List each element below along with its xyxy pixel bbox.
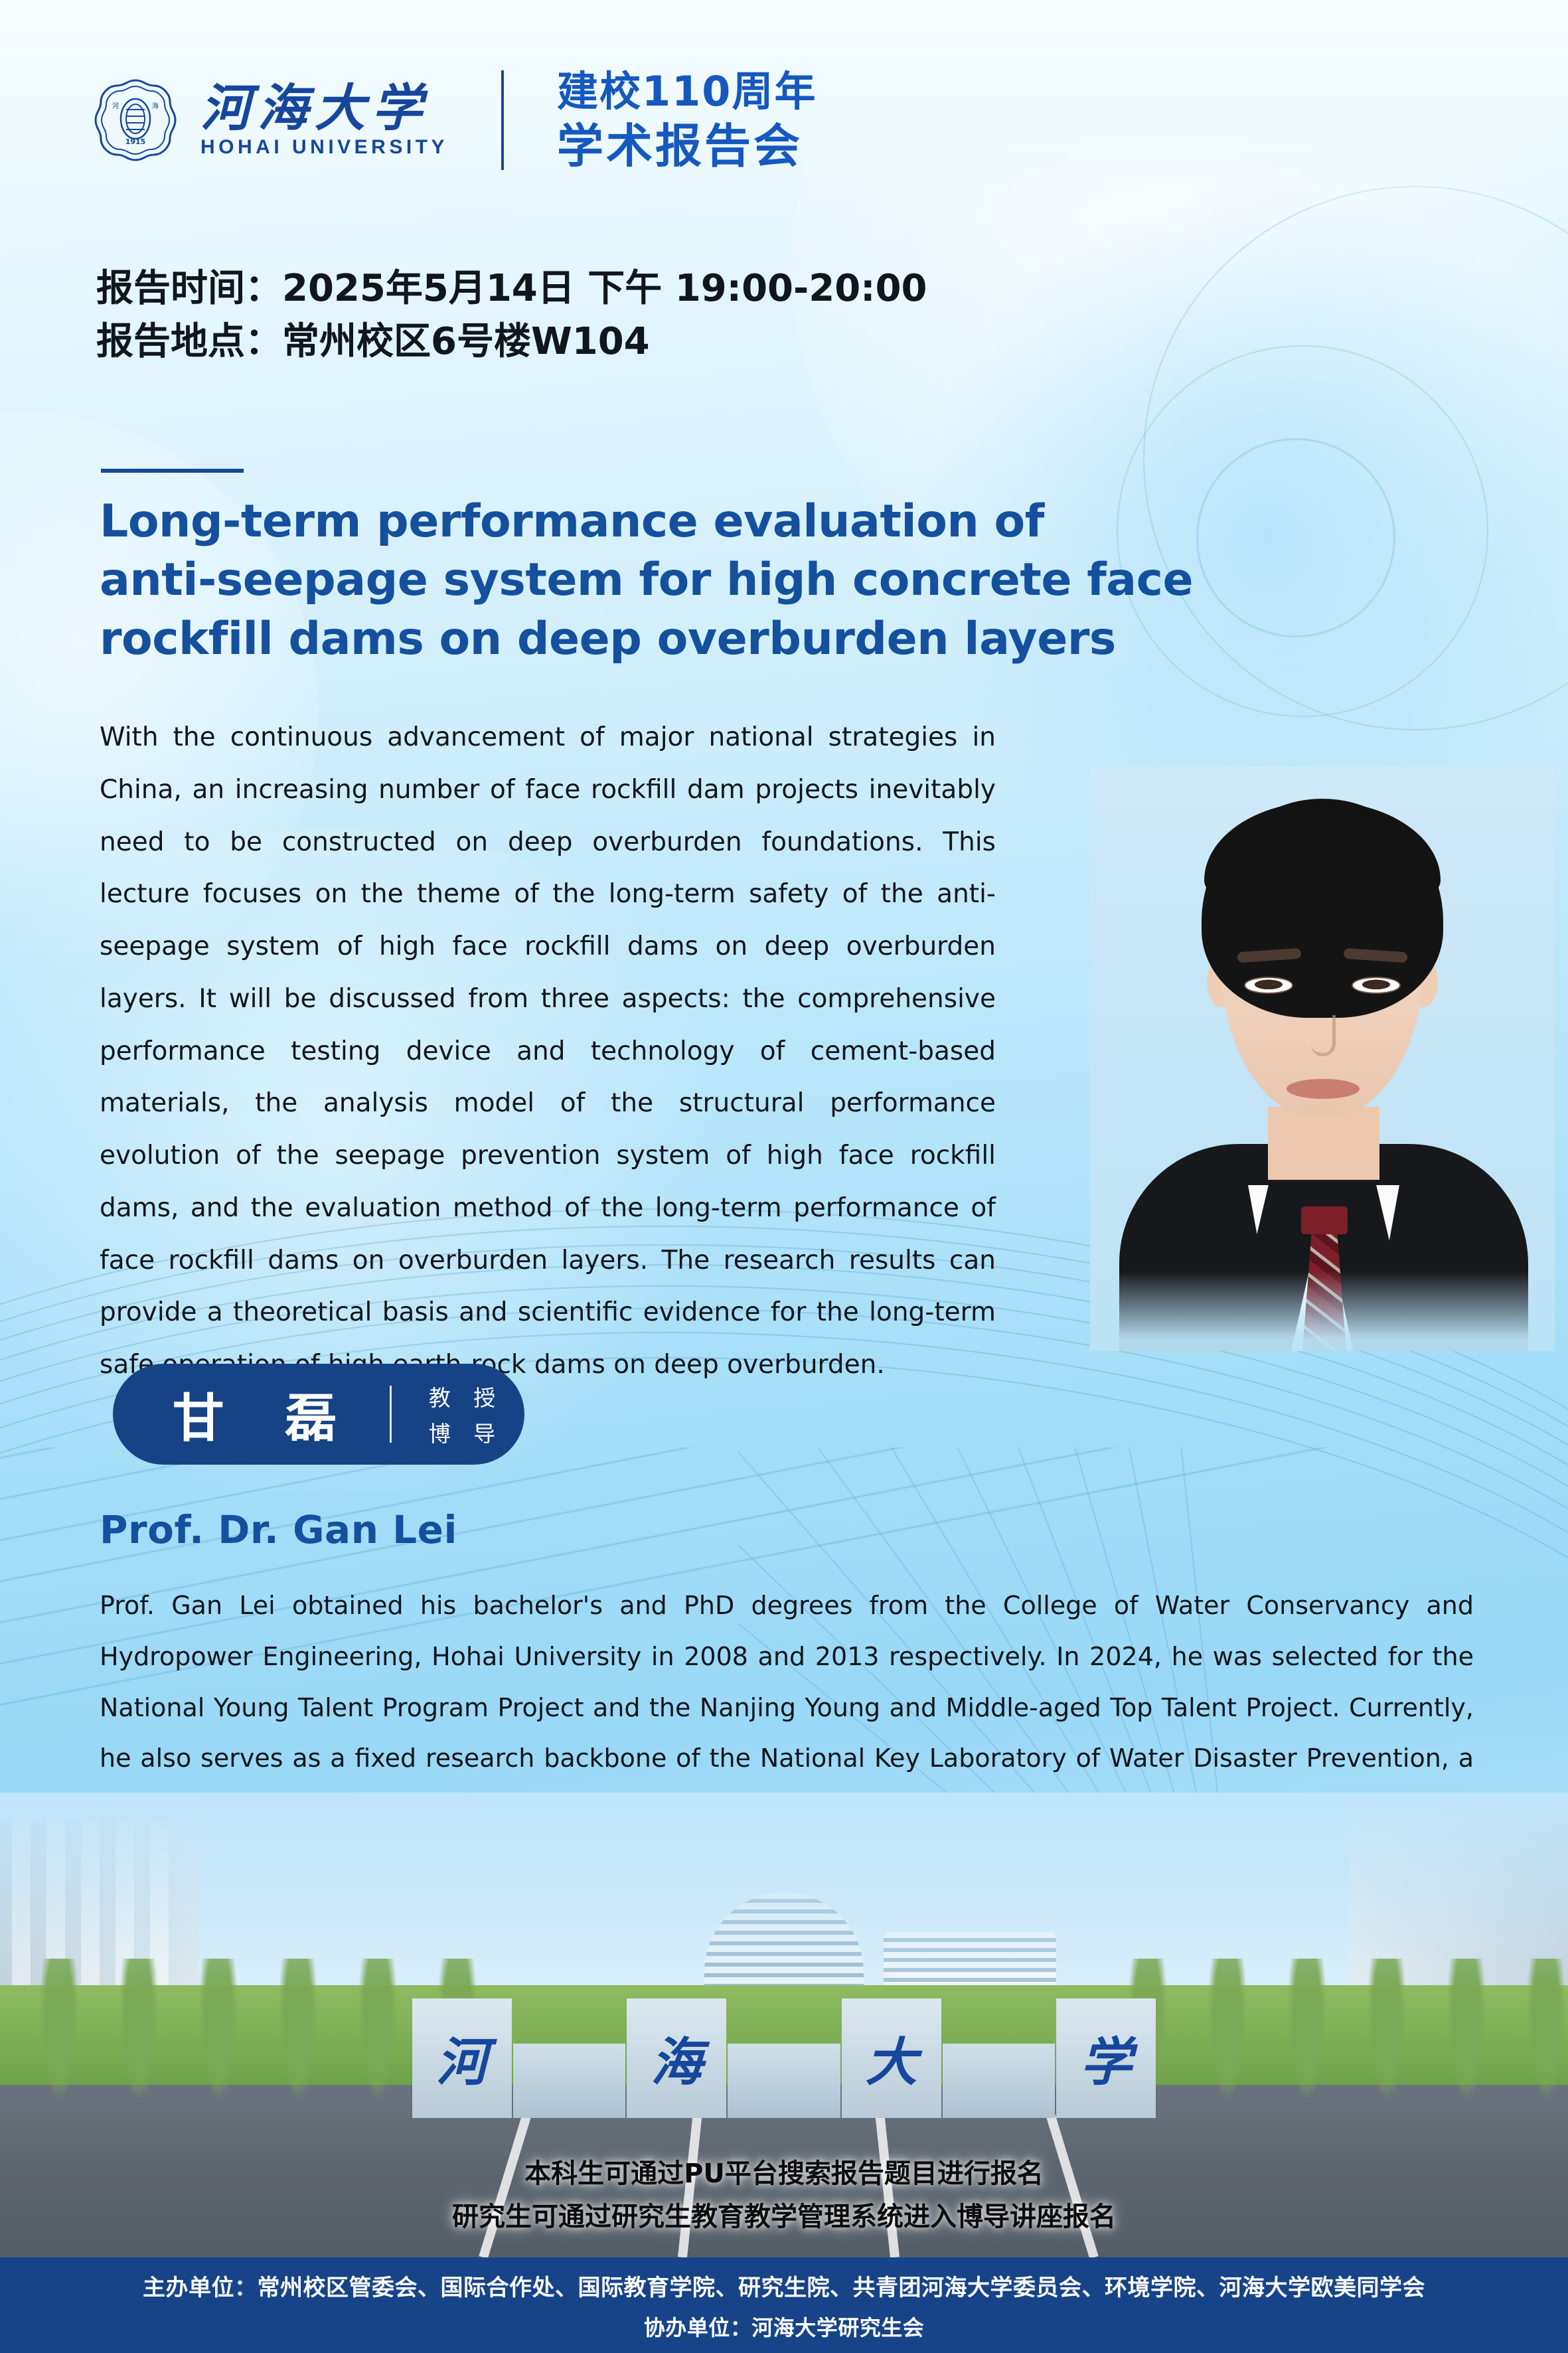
speaker-name-en: Prof. Dr. Gan Lei <box>100 1507 457 1552</box>
event-details: 报告时间：2025年5月14日 下午 19:00-20:00 报告地点：常州校区… <box>96 262 927 368</box>
lecture-poster: 1915 河 海 河海大学 HOHAI UNIVERSITY 建校110周年 学… <box>0 0 1568 2353</box>
header-divider <box>501 70 504 170</box>
anniversary-line-2: 学术报告会 <box>557 122 817 171</box>
speaker-name-badge: 甘 磊 教 授 博 导 <box>113 1364 524 1465</box>
svg-text:河: 河 <box>112 102 119 110</box>
event-time: 报告时间：2025年5月14日 下午 19:00-20:00 <box>96 262 927 315</box>
speaker-title-phd-supervisor: 博 导 <box>421 1416 504 1448</box>
speaker-portrait <box>1090 767 1555 1351</box>
anniversary-line-1: 建校110周年 <box>557 70 817 114</box>
lecture-title: Long-term performance evaluation of anti… <box>100 493 1228 669</box>
university-name-cn: 河海大学 <box>200 83 448 133</box>
poster-header: 1915 河 海 河海大学 HOHAI UNIVERSITY 建校110周年 学… <box>0 0 1568 219</box>
speaker-surname-cn: 甘 <box>173 1377 224 1451</box>
university-name-en: HOHAI UNIVERSITY <box>200 137 448 157</box>
title-rule <box>101 469 244 473</box>
svg-text:海: 海 <box>152 102 159 110</box>
speaker-name-cn: 甘 磊 <box>113 1377 390 1451</box>
lecture-abstract: With the continuous advancement of major… <box>100 712 996 1392</box>
university-seal-icon: 1915 河 海 <box>93 78 178 163</box>
footer-co-organizer: 协办单位：河海大学研究生会 <box>644 2311 925 2342</box>
anniversary-block: 建校110周年 学术报告会 <box>557 70 817 171</box>
registration-info: 本科生可通过PU平台搜索报告题目进行报名 研究生可通过研究生教育教学管理系统进入… <box>0 2152 1568 2239</box>
speaker-givenname-cn: 磊 <box>285 1377 337 1451</box>
event-location: 报告地点：常州校区6号楼W104 <box>96 315 927 368</box>
lecture-title-line-3: rockfill dams on deep overburden layers <box>100 610 1228 669</box>
speaker-titles-cn: 教 授 博 导 <box>392 1380 524 1448</box>
registration-undergraduate: 本科生可通过PU平台搜索报告题目进行报名 <box>0 2152 1568 2196</box>
footer-organizers: 主办单位：常州校区管委会、国际合作处、国际教育学院、研究生院、共青团河海大学委员… <box>143 2269 1425 2302</box>
lecture-title-line-2: anti-seepage system for high concrete fa… <box>100 551 1228 609</box>
poster-footer: 主办单位：常州校区管委会、国际合作处、国际教育学院、研究生院、共青团河海大学委员… <box>0 2257 1568 2353</box>
registration-graduate: 研究生可通过研究生教育教学管理系统进入博导讲座报名 <box>0 2196 1568 2239</box>
university-wordmark: 河海大学 HOHAI UNIVERSITY <box>200 83 448 157</box>
speaker-title-professor: 教 授 <box>421 1380 504 1412</box>
lecture-title-line-1: Long-term performance evaluation of <box>100 493 1228 551</box>
svg-text:1915: 1915 <box>125 137 146 146</box>
